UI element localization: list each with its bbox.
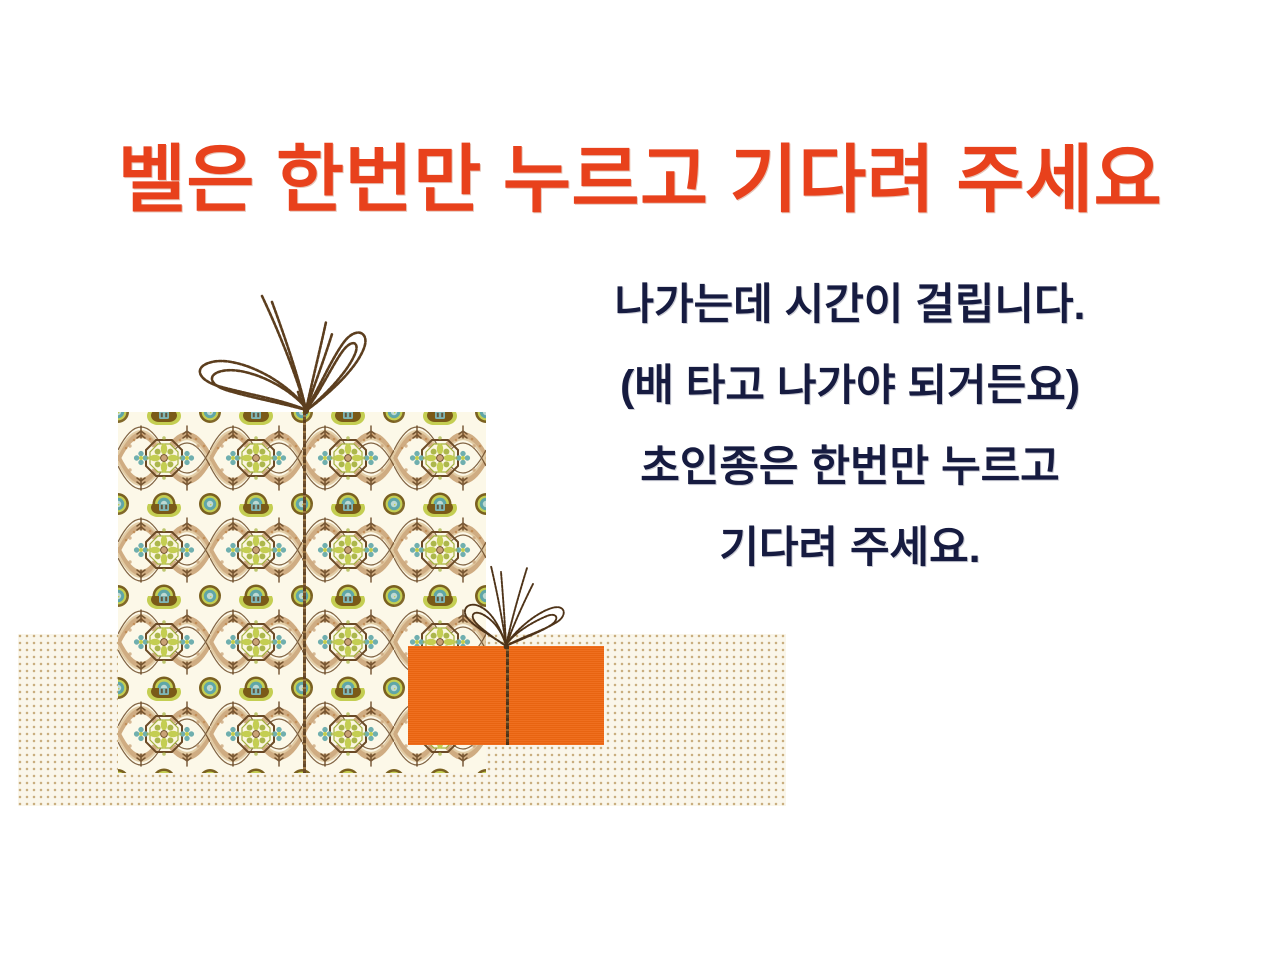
- body-line-3: 초인종은 한번만 누르고: [520, 446, 1180, 489]
- twine-vertical-line-large: [303, 412, 306, 773]
- body-line-4: 기다려 주세요.: [520, 527, 1180, 570]
- bow-large-icon: [188, 282, 388, 418]
- twine-vertical-line-small: [506, 646, 509, 745]
- slide-title: 벨은 한번만 누르고 기다려 주세요: [60, 140, 1220, 220]
- twine-bow-large: [188, 282, 388, 418]
- slide-body-text: 나가는데 시간이 걸립니다. (배 타고 나가야 되거든요) 초인종은 한번만 …: [520, 284, 1180, 570]
- body-line-2: (배 타고 나가야 되거든요): [520, 365, 1180, 408]
- presentation-slide: 벨은 한번만 누르고 기다려 주세요 나가는데 시간이 걸립니다. (배 타고 …: [0, 0, 1280, 959]
- body-line-1: 나가는데 시간이 걸립니다.: [520, 284, 1180, 327]
- orange-gift-box: [408, 646, 604, 745]
